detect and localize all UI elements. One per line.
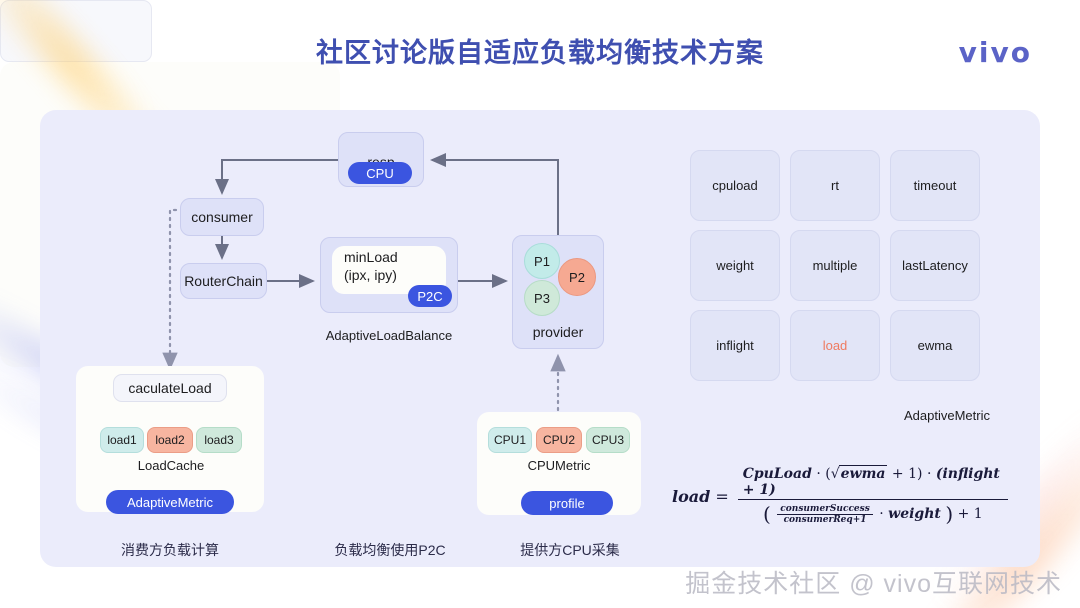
badge-p2c[interactable]: P2C	[408, 285, 452, 307]
slide-header: 社区讨论版自适应负载均衡技术方案	[0, 0, 1080, 100]
formula-den-frac-num: consumerSuccess	[777, 504, 873, 515]
page-title: 社区讨论版自适应负载均衡技术方案	[316, 31, 764, 70]
formula-num-cpuload: CpuLoad	[743, 466, 812, 482]
metric-cell-weight[interactable]: weight	[690, 230, 780, 301]
formula-den-weight: weight	[888, 506, 941, 522]
chip-load1[interactable]: load1	[100, 427, 144, 453]
node-consumer[interactable]: consumer	[180, 198, 264, 236]
vivo-logo: vivo	[959, 36, 1032, 69]
formula-num-dot-1: ·	[816, 466, 820, 482]
load-formula: load = CpuLoad · (√ewma + 1) · (inflight…	[672, 466, 1012, 526]
min-load-line-1: minLoad	[344, 248, 446, 266]
caption-consumer-load-calc: 消费方负载计算	[80, 540, 260, 560]
metric-cell-inflight[interactable]: inflight	[690, 310, 780, 381]
metric-cell-load[interactable]: load	[790, 310, 880, 381]
label-cpu-metric: CPUMetric	[477, 458, 641, 473]
metric-cell-rt[interactable]: rt	[790, 150, 880, 221]
caption-provider-cpu: 提供方CPU采集	[460, 540, 680, 560]
formula-num-ewma: ewma	[839, 465, 888, 482]
chip-cpu1[interactable]: CPU1	[488, 427, 532, 453]
formula-den-frac-den: consumerReq+1	[784, 515, 867, 525]
formula-equals: =	[715, 487, 728, 506]
chip-cpu2[interactable]: CPU2	[536, 427, 582, 453]
chip-cpu3[interactable]: CPU3	[586, 427, 630, 453]
metric-cell-cpuload[interactable]: cpuload	[690, 150, 780, 221]
badge-adaptive-metric[interactable]: AdaptiveMetric	[106, 490, 234, 514]
formula-num-dot-2: ·	[927, 466, 931, 482]
node-provider-label: provider	[533, 324, 584, 340]
provider-node-p2[interactable]: P2	[558, 258, 596, 296]
formula-num-plus-one: + 1)	[892, 466, 923, 482]
label-adaptive-load-balance: AdaptiveLoadBalance	[320, 328, 458, 343]
formula-den-paren-close: )	[945, 502, 953, 526]
metric-cell-lastlatency[interactable]: lastLatency	[890, 230, 980, 301]
badge-profile[interactable]: profile	[521, 491, 613, 515]
provider-node-p3[interactable]: P3	[524, 280, 560, 316]
metric-cell-timeout[interactable]: timeout	[890, 150, 980, 221]
formula-den-paren-open: (	[763, 502, 771, 526]
caption-load-balance-p2c: 负载均衡使用P2C	[300, 540, 480, 560]
badge-cpu[interactable]: CPU	[348, 162, 412, 184]
formula-denominator: ( consumerSuccess consumerReq+1 · weight…	[758, 500, 988, 526]
chip-load2[interactable]: load2	[147, 427, 193, 453]
formula-den-dot: ·	[879, 506, 883, 522]
chip-load3[interactable]: load3	[196, 427, 242, 453]
label-adaptive-metric-panel: AdaptiveMetric	[664, 408, 990, 423]
metric-cell-multiple[interactable]: multiple	[790, 230, 880, 301]
min-load-line-2: (ipx, ipy)	[344, 266, 446, 284]
provider-node-p1[interactable]: P1	[524, 243, 560, 279]
node-router-chain[interactable]: RouterChain	[180, 263, 267, 299]
formula-lhs: load	[672, 487, 710, 506]
label-load-cache: LoadCache	[95, 458, 247, 473]
watermark: 掘金技术社区 @ vivo互联网技术	[685, 564, 1062, 600]
formula-numerator: CpuLoad · (√ewma + 1) · (inflight + 1)	[738, 466, 1008, 500]
metric-cell-ewma[interactable]: ewma	[890, 310, 980, 381]
node-caculate-load[interactable]: caculateLoad	[113, 374, 227, 402]
node-min-load-text: minLoad (ipx, ipy)	[332, 248, 446, 284]
adaptive-metric-grid: cpuload rt timeout weight multiple lastL…	[690, 150, 980, 393]
formula-den-plus-one: + 1	[958, 506, 983, 522]
